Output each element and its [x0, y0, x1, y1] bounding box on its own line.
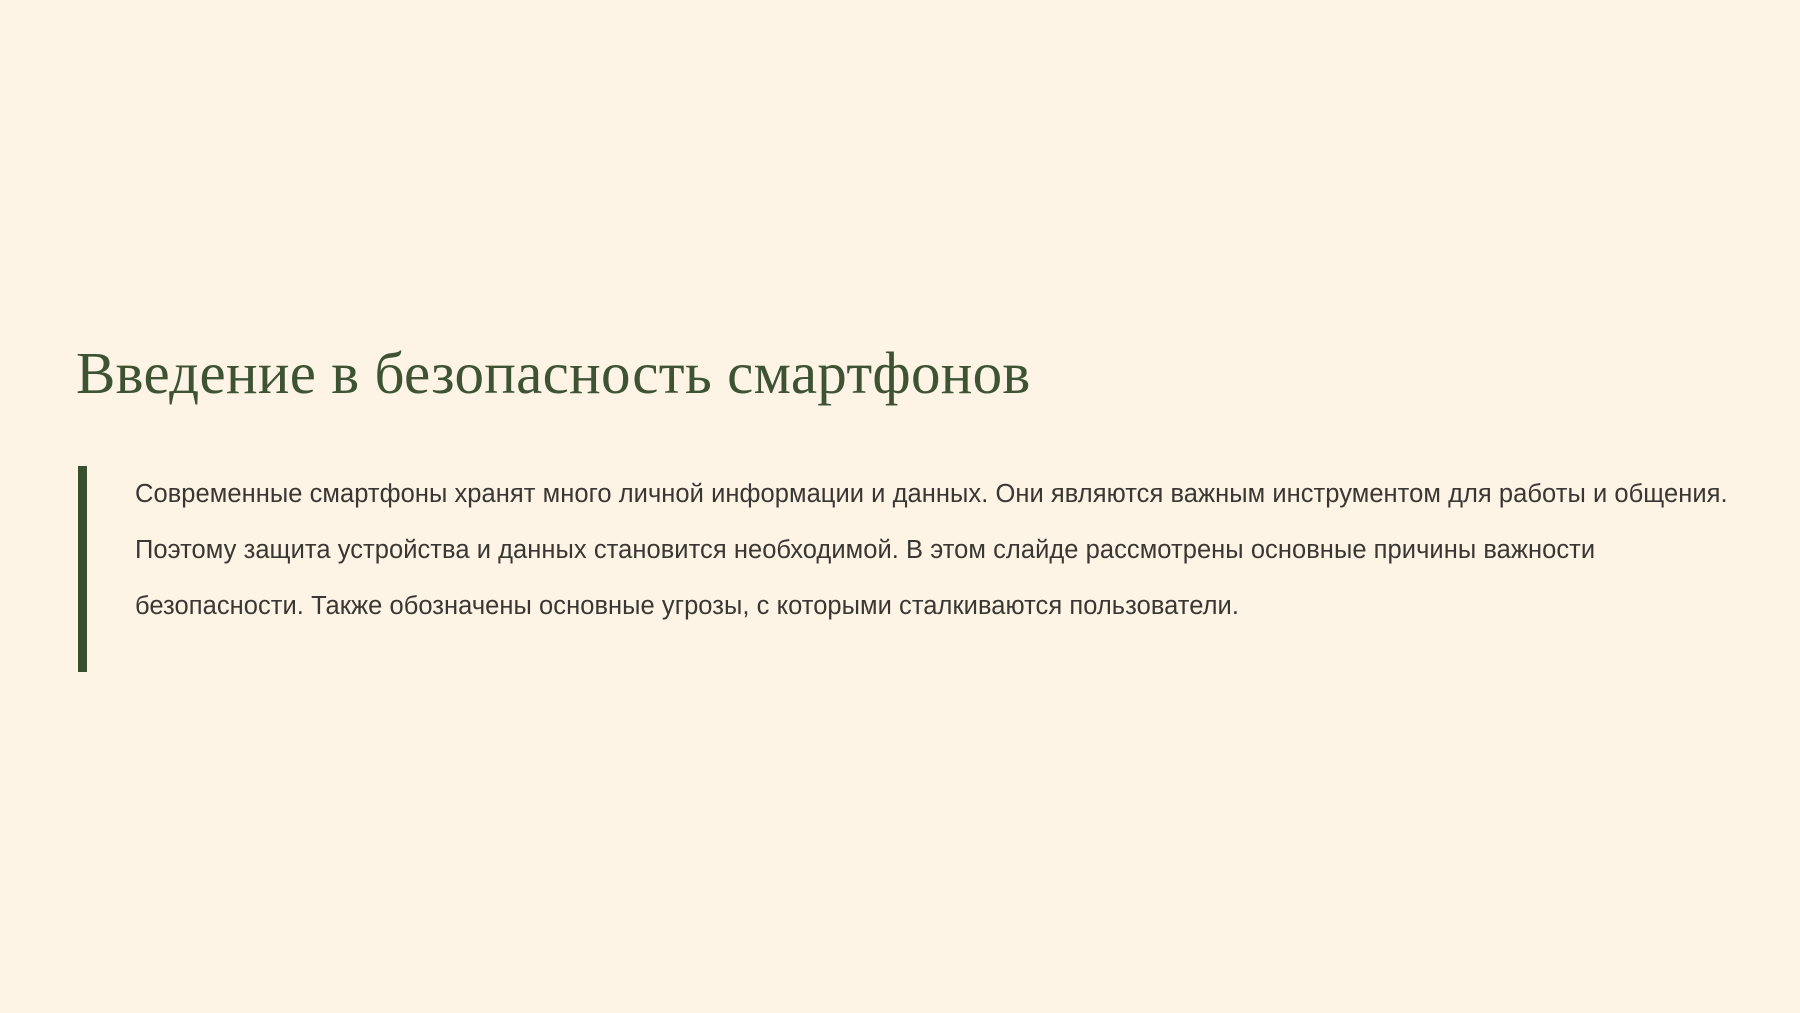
- accent-bar: [78, 466, 87, 672]
- presentation-slide: Введение в безопасность смартфонов Совре…: [0, 0, 1800, 1013]
- slide-title: Введение в безопасность смартфонов: [76, 340, 1726, 406]
- body-text-container: Современные смартфоны хранят много лично…: [87, 466, 1738, 672]
- slide-body-paragraph: Современные смартфоны хранят много лично…: [135, 466, 1738, 634]
- body-block: Современные смартфоны хранят много лично…: [78, 466, 1738, 672]
